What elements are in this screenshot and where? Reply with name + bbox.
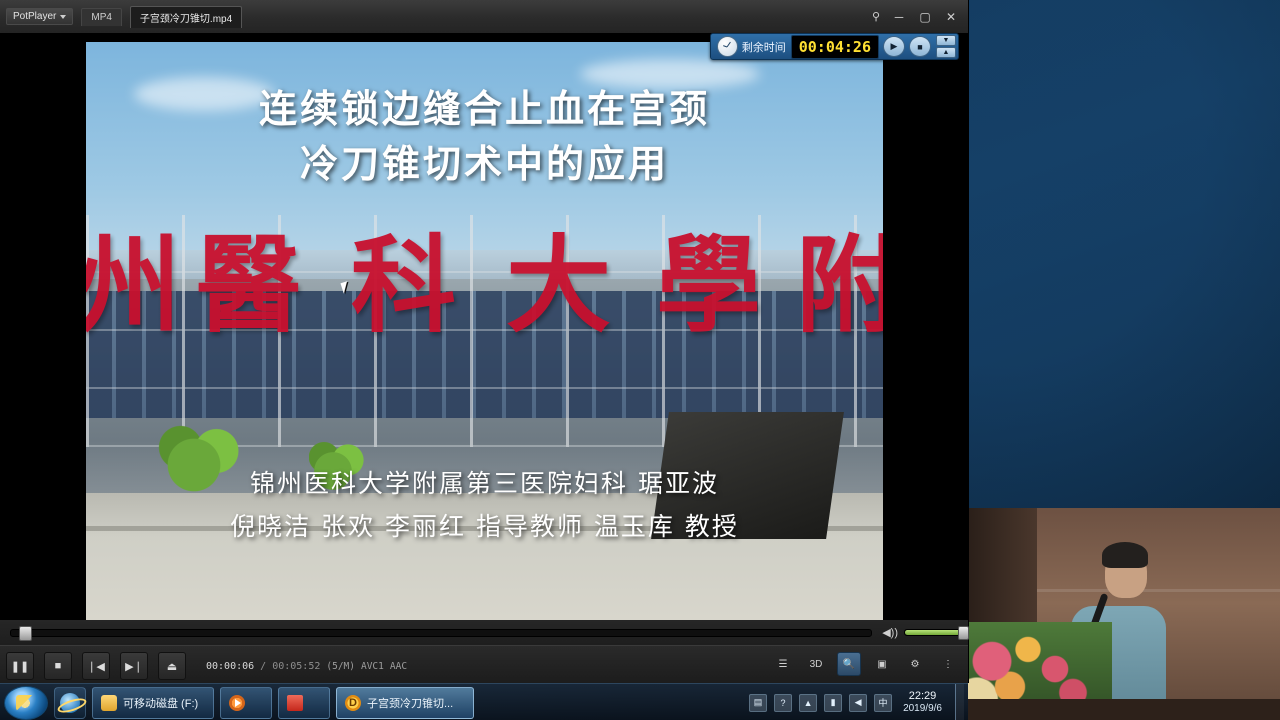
taskbar-item-potplayer[interactable]: 子宫颈冷刀锥切... [336,687,474,719]
pin-icon[interactable]: ⚲ [872,10,880,23]
search-icon[interactable]: 🔍 [837,652,861,676]
speaker-icon[interactable]: ◀)) [882,626,898,639]
podium-table [968,699,1280,720]
signage-char-0: 州 [86,233,181,338]
volume-handle[interactable] [958,626,969,640]
signage-char-4: 學 [656,233,761,338]
signage-char-5: 附 [796,233,883,338]
taskbar-item-potplayer-label: 子宫颈冷刀锥切... [367,695,453,711]
control-bar[interactable]: ❚❚ ■ ❘◀ ▶❘ ⏏ 00:00:06 / 00:05:52 (5/M) A… [0,645,968,684]
previous-button[interactable]: ❘◀ [82,652,110,680]
system-tray[interactable]: ▤ ? ▲ ▮ ◀ 中 22:29 2019/9/6 [749,684,968,720]
window-titlebar[interactable]: PotPlayer MP4 子宫颈冷刀锥切.mp4 ⚲ ─ ▢ ✕ [0,0,968,34]
minimize-button[interactable]: ─ [892,10,906,24]
internet-explorer-icon [60,693,80,713]
osd-remaining-label: 剩余时间 [742,39,791,55]
video-title: 连续锁边缝合止血在宫颈 冷刀锥切术中的应用 [86,82,883,192]
pause-button[interactable]: ❚❚ [6,652,34,680]
tray-volume-icon[interactable]: ◀ [849,694,867,712]
volume-slider[interactable] [904,629,968,636]
gear-icon[interactable]: ⚙ [903,652,927,676]
close-button[interactable]: ✕ [944,10,958,24]
current-time: 00:00:06 [206,661,254,672]
app-name-label: PotPlayer [13,11,56,22]
menu-button[interactable]: ⋮ [936,652,960,676]
osd-stop-button[interactable]: ■ [909,36,931,57]
taskbar-item-media[interactable] [220,687,272,719]
signage-char-3: 大 [506,233,611,338]
osd-arrow-down-icon[interactable]: ▼ [936,35,956,46]
volume-control[interactable]: ◀)) [882,626,968,639]
osd-remaining-value: 00:04:26 [791,35,879,59]
clock-time: 22:29 [903,690,942,703]
start-button[interactable] [4,686,48,720]
video-codec-label: AVC1 [361,661,384,672]
video-title-line-2: 冷刀锥切术中的应用 [86,137,883,192]
video-credit-line-1: 锦州医科大学附属第三医院妇科 琚亚波 [86,463,883,506]
audio-codec-label: AAC [390,661,407,672]
potplayer-window: PotPlayer MP4 子宫颈冷刀锥切.mp4 ⚲ ─ ▢ ✕ [0,0,969,683]
next-button[interactable]: ▶❘ [120,652,148,680]
seek-handle[interactable] [19,626,32,641]
seek-row[interactable]: ◀)) [0,620,968,645]
3d-button[interactable]: 3D [804,652,828,676]
tab-file[interactable]: 子宫颈冷刀锥切.mp4 [130,6,242,28]
video-credits: 锦州医科大学附属第三医院妇科 琚亚波 倪晓洁 张欢 李丽红 指导教师 温玉库 教… [86,463,883,548]
osd-play-button[interactable]: ▶ [883,36,905,57]
tray-input-icon[interactable]: 中 [874,694,892,712]
signage-char-1: 醫 [196,233,301,338]
osd-arrow-up-icon[interactable]: ▲ [936,47,956,58]
playlist-button[interactable]: ☰ [771,652,795,676]
webcam-panel [968,508,1280,720]
maximize-button[interactable]: ▢ [918,10,932,24]
signage-char-2: 科 [351,233,456,338]
time-separator: / [260,661,266,672]
speaker-hair [1102,542,1148,568]
tray-show-hidden-icon[interactable]: ▲ [799,694,817,712]
media-player-icon [229,695,245,711]
tray-network-icon[interactable]: ▮ [824,694,842,712]
potplayer-icon [345,695,361,711]
quicklaunch-internet-explorer[interactable] [54,687,86,719]
taskbar-item-removable-disk[interactable]: 可移动磁盘 (F:) [92,687,214,719]
chevron-down-icon [60,15,66,19]
seek-slider[interactable] [10,629,872,637]
video-title-line-1: 连续锁边缝合止血在宫颈 [86,82,883,137]
video-area[interactable]: 州 醫 科 大 學 附 连续锁边缝合止血在宫颈 冷刀锥切术中的应用 锦州医科大学… [0,33,968,645]
video-surface[interactable]: 州 醫 科 大 學 附 连续锁边缝合止血在宫颈 冷刀锥切术中的应用 锦州医科大学… [86,42,883,620]
total-time: 00:05:52 [272,661,320,672]
screenshot-button[interactable]: ▣ [870,652,894,676]
stop-button[interactable]: ■ [44,652,72,680]
taskbar-clock[interactable]: 22:29 2019/9/6 [899,690,948,714]
time-display: 00:00:06 / 00:05:52 (5/M) AVC1 AAC [206,661,407,672]
video-credit-line-2: 倪晓洁 张欢 李丽红 指导教师 温玉库 教授 [86,506,883,549]
taskbar-item-pdf[interactable] [278,687,330,719]
tab-format[interactable]: MP4 [81,8,122,26]
pdf-icon [287,695,303,711]
clock-icon [717,36,738,57]
folder-icon [101,695,117,711]
eject-button[interactable]: ⏏ [158,652,186,680]
volume-fill [905,630,960,635]
clock-date: 2019/9/6 [903,703,942,715]
show-desktop-button[interactable] [955,684,964,720]
osd-arrow-group[interactable]: ▼ ▲ [936,35,956,58]
taskbar-item-removable-disk-label: 可移动磁盘 (F:) [123,695,198,711]
osd-remaining-time-bar[interactable]: 剩余时间 00:04:26 ▶ ■ ▼ ▲ [710,33,959,60]
tray-help-icon[interactable]: ? [774,694,792,712]
speed-label: (5/M) [326,661,355,672]
tray-drive-icon[interactable]: ▤ [749,694,767,712]
app-menu-button[interactable]: PotPlayer [6,8,73,25]
taskbar[interactable]: 可移动磁盘 (F:) 子宫颈冷刀锥切... ▤ ? ▲ ▮ ◀ 中 22:29 [0,683,968,720]
